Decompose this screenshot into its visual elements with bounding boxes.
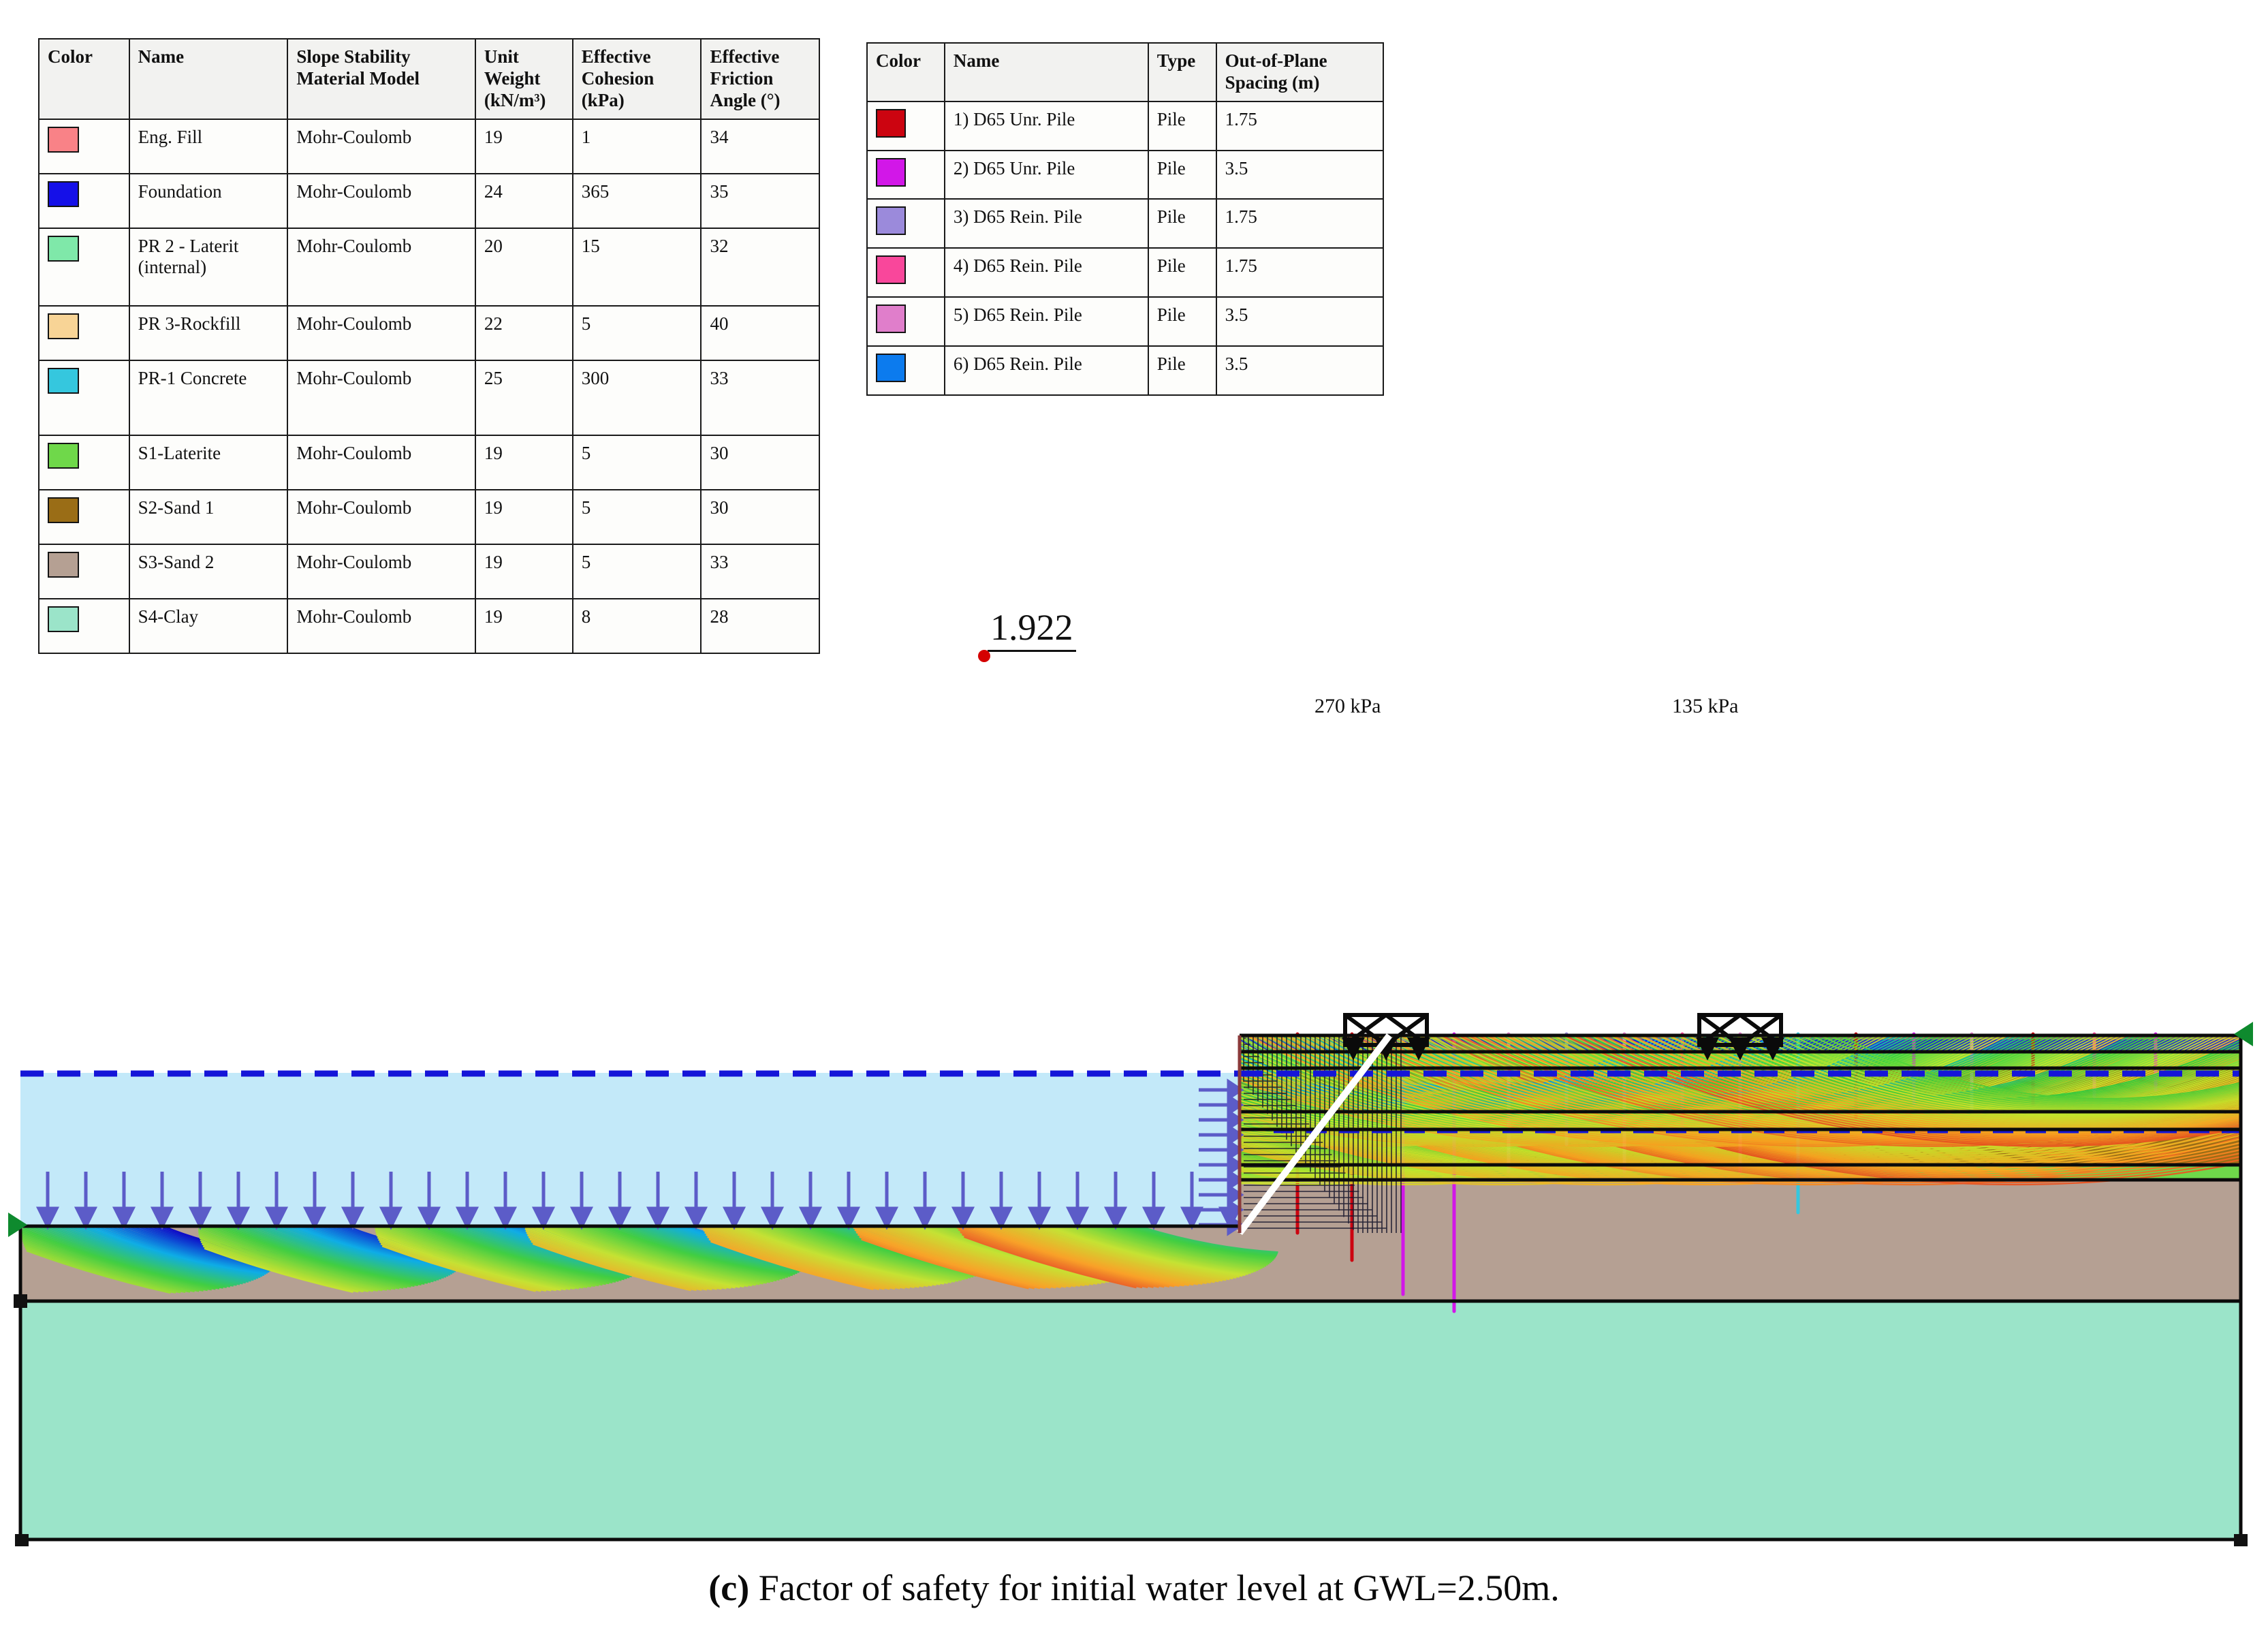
material-name-cell: S3-Sand 2 [129, 544, 288, 599]
pile-row: 4) D65 Rein. PilePile1.75 [867, 248, 1383, 297]
material-model-cell: Mohr-Coulomb [287, 228, 475, 306]
material-model-cell: Mohr-Coulomb [287, 360, 475, 435]
material-color-cell [39, 119, 129, 174]
material-unit-weight-cell: 19 [475, 435, 573, 490]
material-unit-weight-cell: 19 [475, 119, 573, 174]
material-unit-weight-cell: 19 [475, 599, 573, 653]
factor-of-safety-annotation: 1.922 [988, 606, 1076, 652]
pile-type-cell: Pile [1148, 346, 1216, 395]
material-cohesion-cell: 15 [573, 228, 702, 306]
material-model-cell: Mohr-Coulomb [287, 119, 475, 174]
col-header-coh-line1: Effective [582, 46, 651, 67]
pile-type-cell: Pile [1148, 248, 1216, 297]
pile-spacing-cell: 1.75 [1216, 101, 1383, 151]
pile-type-cell: Pile [1148, 101, 1216, 151]
col-header-cohesion: Effective Cohesion (kPa) [573, 39, 702, 119]
figure-caption-text: Factor of safety for initial water level… [749, 1567, 1560, 1608]
pile-color-swatch [876, 354, 906, 382]
pile-row: 5) D65 Rein. PilePile3.5 [867, 297, 1383, 346]
material-name-cell: PR-1 Concrete [129, 360, 288, 435]
col-header-fric-line3: Angle (°) [710, 90, 780, 110]
material-color-cell [39, 599, 129, 653]
pile-col-header-spacing-line2: Spacing (m) [1225, 72, 1320, 93]
critical-center-marker-icon [978, 650, 990, 662]
pile-col-header-name-text: Name [954, 50, 999, 71]
pile-color-swatch [876, 158, 906, 187]
material-unit-weight-cell: 19 [475, 490, 573, 544]
pile-col-header-name: Name [945, 43, 1148, 101]
figure-caption-label: (c) [708, 1567, 749, 1608]
pile-row: 1) D65 Unr. PilePile1.75 [867, 101, 1383, 151]
material-unit-weight-cell: 22 [475, 306, 573, 360]
pile-color-cell [867, 199, 945, 248]
pile-spacing-cell: 1.75 [1216, 199, 1383, 248]
material-color-swatch [48, 368, 79, 394]
pile-color-cell [867, 151, 945, 200]
col-header-fric-line2: Friction [710, 68, 773, 89]
material-color-cell [39, 306, 129, 360]
material-row: FoundationMohr-Coulomb2436535 [39, 174, 819, 228]
col-header-coh-line2: Cohesion [582, 68, 655, 89]
slope-stability-model-canvas [0, 695, 2268, 1546]
pile-name-cell: 6) D65 Rein. Pile [945, 346, 1148, 395]
pile-color-cell [867, 346, 945, 395]
material-model-cell: Mohr-Coulomb [287, 174, 475, 228]
boundary-node-left [14, 1294, 27, 1308]
material-friction-cell: 33 [701, 544, 819, 599]
material-model-cell: Mohr-Coulomb [287, 599, 475, 653]
material-cohesion-cell: 365 [573, 174, 702, 228]
material-friction-cell: 34 [701, 119, 819, 174]
col-header-name-text: Name [138, 46, 184, 67]
material-cohesion-cell: 5 [573, 544, 702, 599]
material-unit-weight-cell: 24 [475, 174, 573, 228]
material-cohesion-cell: 8 [573, 599, 702, 653]
material-color-swatch [48, 443, 79, 469]
boundary-pin-icon-bottom-left [15, 1534, 29, 1546]
pile-type-cell: Pile [1148, 151, 1216, 200]
material-color-swatch [48, 236, 79, 262]
pile-row: 6) D65 Rein. PilePile3.5 [867, 346, 1383, 395]
material-unit-weight-cell: 20 [475, 228, 573, 306]
material-color-cell [39, 435, 129, 490]
pile-col-header-type: Type [1148, 43, 1216, 101]
factor-of-safety-value: 1.922 [988, 606, 1076, 652]
pile-name-cell: 4) D65 Rein. Pile [945, 248, 1148, 297]
material-unit-weight-cell: 25 [475, 360, 573, 435]
pile-color-swatch [876, 255, 906, 284]
material-row: PR 2 - Laterit (internal)Mohr-Coulomb201… [39, 228, 819, 306]
material-friction-cell: 33 [701, 360, 819, 435]
material-model-cell: Mohr-Coulomb [287, 544, 475, 599]
material-color-cell [39, 490, 129, 544]
pile-color-swatch [876, 109, 906, 138]
material-friction-cell: 40 [701, 306, 819, 360]
material-color-cell [39, 174, 129, 228]
material-row: S3-Sand 2Mohr-Coulomb19533 [39, 544, 819, 599]
figure-caption: (c) Factor of safety for initial water l… [0, 1567, 2268, 1609]
pile-spacing-cell: 3.5 [1216, 297, 1383, 346]
material-row: PR-1 ConcreteMohr-Coulomb2530033 [39, 360, 819, 435]
material-properties-table: Color Name Slope Stability Material Mode… [38, 38, 820, 654]
material-friction-cell: 30 [701, 490, 819, 544]
pile-name-cell: 2) D65 Unr. Pile [945, 151, 1148, 200]
embankment-base-sand2 [1240, 1172, 2241, 1301]
pile-col-header-spacing: Out-of-Plane Spacing (m) [1216, 43, 1383, 101]
col-header-unit-weight: Unit Weight (kN/m³) [475, 39, 573, 119]
material-name-cell: S1-Laterite [129, 435, 288, 490]
material-color-cell [39, 360, 129, 435]
material-color-swatch [48, 313, 79, 339]
material-cohesion-cell: 300 [573, 360, 702, 435]
material-color-swatch [48, 181, 79, 207]
material-name-cell: S2-Sand 1 [129, 490, 288, 544]
col-header-uw-line2: Weight [484, 68, 541, 89]
col-header-uw-line1: Unit [484, 46, 519, 67]
pile-col-header-color-text: Color [876, 50, 921, 71]
material-color-swatch [48, 127, 79, 153]
material-row: PR 3-RockfillMohr-Coulomb22540 [39, 306, 819, 360]
col-header-model-line1: Slope Stability [296, 46, 410, 67]
material-row: S1-LateriteMohr-Coulomb19530 [39, 435, 819, 490]
col-header-model-line2: Material Model [296, 68, 420, 89]
material-name-cell: PR 3-Rockfill [129, 306, 288, 360]
pile-name-cell: 5) D65 Rein. Pile [945, 297, 1148, 346]
material-row: S4-ClayMohr-Coulomb19828 [39, 599, 819, 653]
pile-col-header-spacing-line1: Out-of-Plane [1225, 50, 1327, 71]
material-name-cell: PR 2 - Laterit (internal) [129, 228, 288, 306]
material-color-cell [39, 228, 129, 306]
pile-col-header-type-text: Type [1157, 50, 1196, 71]
pile-support-table: Color Name Type Out-of-Plane Spacing (m)… [866, 42, 1384, 396]
material-unit-weight-cell: 19 [475, 544, 573, 599]
material-friction-cell: 35 [701, 174, 819, 228]
pile-row: 2) D65 Unr. PilePile3.5 [867, 151, 1383, 200]
pile-col-header-color: Color [867, 43, 945, 101]
material-cohesion-cell: 1 [573, 119, 702, 174]
material-color-swatch [48, 552, 79, 578]
pile-spacing-cell: 3.5 [1216, 346, 1383, 395]
material-color-swatch [48, 497, 79, 523]
col-header-uw-line3: (kN/m³) [484, 90, 546, 110]
material-cohesion-cell: 5 [573, 435, 702, 490]
col-header-coh-line3: (kPa) [582, 90, 625, 110]
col-header-color-text: Color [48, 46, 93, 67]
material-model-cell: Mohr-Coulomb [287, 306, 475, 360]
col-header-model: Slope Stability Material Model [287, 39, 475, 119]
material-name-cell: S4-Clay [129, 599, 288, 653]
material-color-cell [39, 544, 129, 599]
col-header-color: Color [39, 39, 129, 119]
pile-type-cell: Pile [1148, 297, 1216, 346]
material-friction-cell: 28 [701, 599, 819, 653]
pile-row: 3) D65 Rein. PilePile1.75 [867, 199, 1383, 248]
pile-color-swatch [876, 304, 906, 333]
material-model-cell: Mohr-Coulomb [287, 490, 475, 544]
pile-color-cell [867, 101, 945, 151]
pile-color-cell [867, 297, 945, 346]
col-header-name: Name [129, 39, 288, 119]
pile-spacing-cell: 3.5 [1216, 151, 1383, 200]
layer-s4-clay [20, 1301, 2241, 1540]
material-name-cell: Foundation [129, 174, 288, 228]
pile-type-cell: Pile [1148, 199, 1216, 248]
col-header-friction: Effective Friction Angle (°) [701, 39, 819, 119]
material-table-header-row: Color Name Slope Stability Material Mode… [39, 39, 819, 119]
material-friction-cell: 32 [701, 228, 819, 306]
pile-color-cell [867, 248, 945, 297]
material-friction-cell: 30 [701, 435, 819, 490]
material-cohesion-cell: 5 [573, 490, 702, 544]
material-row: Eng. FillMohr-Coulomb19134 [39, 119, 819, 174]
col-header-fric-line1: Effective [710, 46, 779, 67]
pile-table-header-row: Color Name Type Out-of-Plane Spacing (m) [867, 43, 1383, 101]
pile-name-cell: 1) D65 Unr. Pile [945, 101, 1148, 151]
material-model-cell: Mohr-Coulomb [287, 435, 475, 490]
pile-color-swatch [876, 206, 906, 235]
material-row: S2-Sand 1Mohr-Coulomb19530 [39, 490, 819, 544]
material-cohesion-cell: 5 [573, 306, 702, 360]
material-color-swatch [48, 606, 79, 632]
pile-name-cell: 3) D65 Rein. Pile [945, 199, 1148, 248]
water-body-region [20, 1073, 1240, 1226]
pile-spacing-cell: 1.75 [1216, 248, 1383, 297]
boundary-pin-icon-bottom-right [2234, 1534, 2248, 1546]
material-name-cell: Eng. Fill [129, 119, 288, 174]
